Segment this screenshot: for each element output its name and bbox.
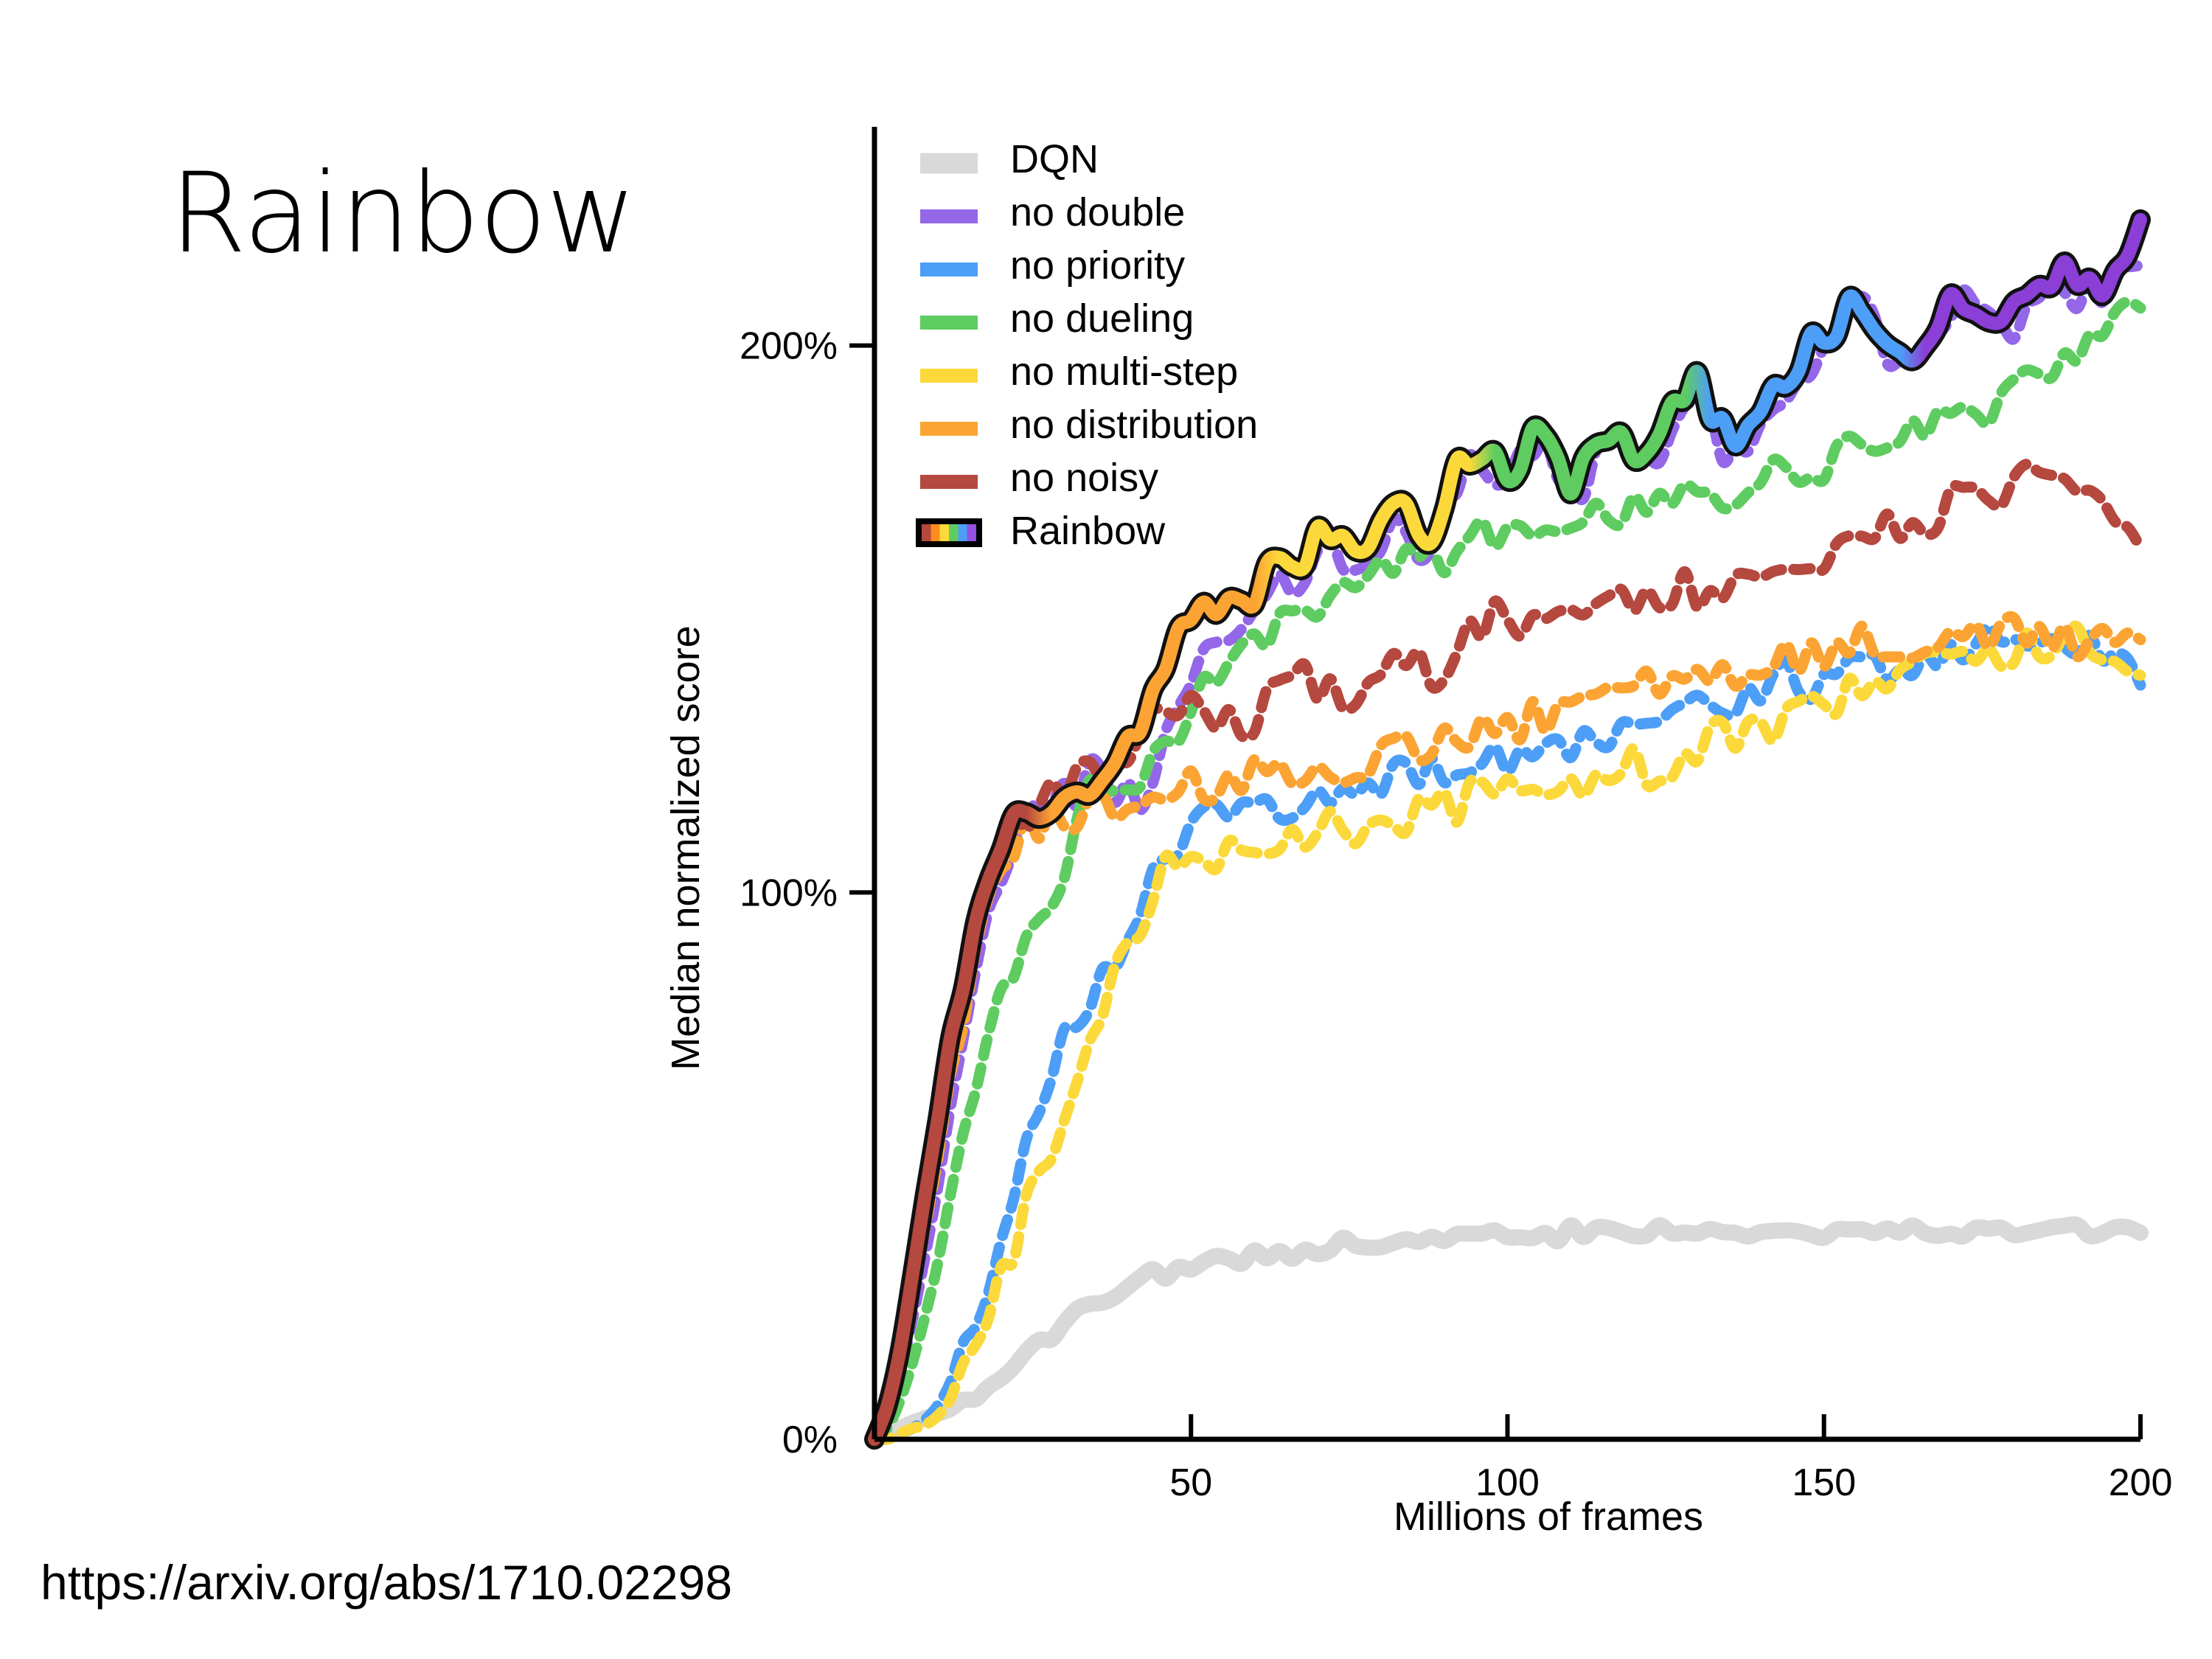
legend-label-rainbow[interactable]: Rainbow [1010, 509, 1166, 553]
legend-swatch-no-multi-step [920, 369, 978, 383]
y-tick-label: 200% [740, 325, 838, 368]
x-axis-title: Millions of frames [1394, 1495, 1703, 1539]
legend-label-no-priority[interactable]: no priority [1010, 243, 1185, 288]
slide-canvas: Rainbow [0, 0, 2212, 1659]
series-no-noisy [874, 464, 2140, 1439]
source-url-link[interactable]: https://arxiv.org/abs/1710.02298 [41, 1554, 732, 1610]
legend-label-no-noisy[interactable]: no noisy [1010, 456, 1158, 500]
chart-svg: 0%100%200% 50100150200 Median normalized… [664, 88, 2197, 1556]
x-tick-label: 200 [2109, 1461, 2173, 1504]
legend-label-no-distribution[interactable]: no distribution [1010, 403, 1258, 447]
y-tick-label: 100% [740, 872, 838, 914]
x-axis-ticks: 50100150200 [1169, 1414, 2172, 1504]
legend-swatch-no-noisy [920, 475, 978, 489]
series-path [874, 464, 2140, 1439]
legend-swatch-no-double [920, 209, 978, 223]
legend-swatch-rainbow [922, 524, 976, 541]
legend-label-no-multi-step[interactable]: no multi-step [1010, 349, 1238, 394]
legend-swatch-no-priority [920, 262, 978, 276]
legend-swatch-no-distribution [920, 422, 978, 436]
y-tick-label: 0% [782, 1419, 838, 1461]
legend-swatch-dqn [920, 153, 978, 174]
chart-legend: DQNno doubleno priorityno duelingno mult… [916, 137, 1258, 553]
x-tick-label: 50 [1169, 1461, 1212, 1504]
y-axis-ticks: 0%100%200% [740, 325, 874, 1461]
x-tick-label: 150 [1792, 1461, 1856, 1504]
series-dqn [874, 1225, 2140, 1439]
y-axis-title: Median normalized score [664, 625, 708, 1070]
legend-label-dqn[interactable]: DQN [1010, 137, 1099, 181]
legend-swatch-no-dueling [920, 316, 978, 330]
legend-label-no-double[interactable]: no double [1010, 190, 1185, 234]
page-title: Rainbow [170, 159, 636, 269]
rainbow-performance-chart: 0%100%200% 50100150200 Median normalized… [664, 88, 2197, 1556]
legend-label-no-dueling[interactable]: no dueling [1010, 296, 1194, 341]
series-path [874, 1225, 2140, 1439]
